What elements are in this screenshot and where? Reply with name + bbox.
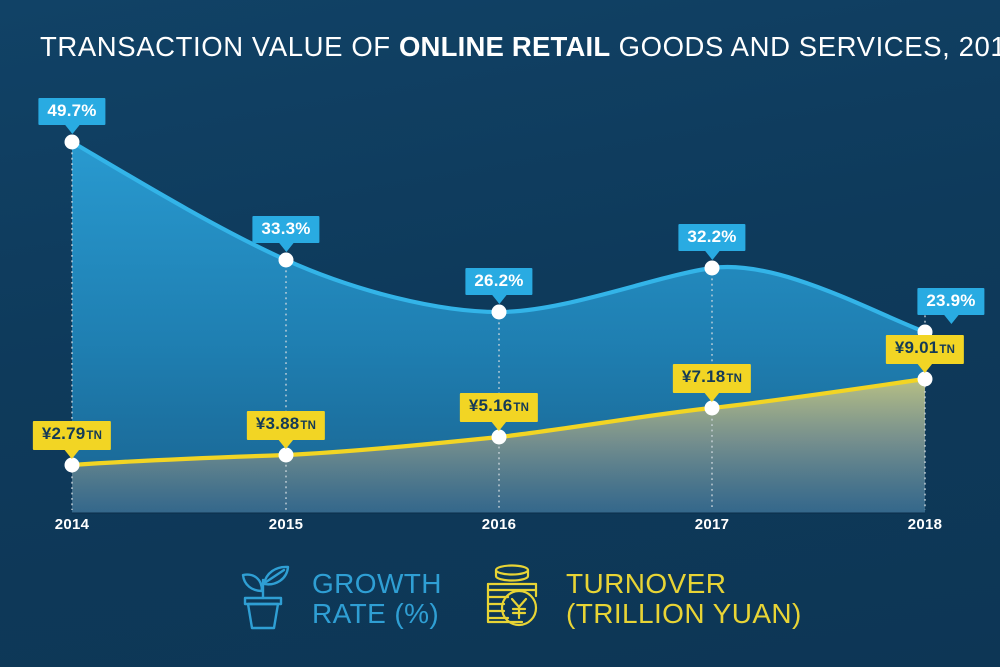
potted-plant-icon [228,560,298,637]
data-point [279,253,294,268]
turnover-callout-2014[interactable]: ¥2.79TN [33,421,111,450]
data-point [918,372,933,387]
data-point [65,135,80,150]
turnover-value: ¥3.88 [256,414,300,433]
data-point [492,430,507,445]
data-point [279,448,294,463]
legend-item-turnover[interactable]: TURNOVER (TRILLION YUAN) [478,560,802,637]
growth-rate-value: 26.2% [474,271,523,290]
turnover-callout-2016[interactable]: ¥5.16TN [460,393,538,422]
turnover-unit: TN [86,430,102,442]
callout-tail [278,439,294,449]
turnover-callout-2015[interactable]: ¥3.88TN [247,411,325,440]
callout-tail [64,124,80,134]
turnover-value: ¥2.79 [42,424,86,443]
axis-label-2018: 2018 [885,516,965,534]
callout-tail [491,421,507,431]
growth-rate-callout-2017[interactable]: 32.2% [678,224,745,251]
turnover-callout-2017[interactable]: ¥7.18TN [673,364,751,393]
legend-label-turnover: TURNOVER (TRILLION YUAN) [566,569,802,629]
data-point [65,458,80,473]
growth-rate-callout-2015[interactable]: 33.3% [252,216,319,243]
data-point [705,261,720,276]
legend-label-turnover-line2: (TRILLION YUAN) [566,599,802,629]
callout-tail [704,250,720,260]
data-point [492,305,507,320]
legend-label-growth-rate-line2: RATE (%) [312,599,442,629]
growth-rate-callout-2018[interactable]: 23.9% [917,288,984,315]
legend-label-growth-rate: GROWTH RATE (%) [312,569,442,629]
coin-stack-yuan-icon [478,560,552,637]
callout-tail [917,363,933,373]
turnover-value: ¥5.16 [469,396,513,415]
turnover-callout-2018[interactable]: ¥9.01TN [886,335,964,364]
turnover-value: ¥9.01 [895,338,939,357]
callout-tail [704,392,720,402]
turnover-unit: TN [726,373,742,385]
growth-rate-callout-2016[interactable]: 26.2% [465,268,532,295]
callout-tail [491,294,507,304]
callout-tail [64,449,80,459]
axis-label-2014: 2014 [32,516,112,534]
growth-rate-callout-2014[interactable]: 49.7% [38,98,105,125]
growth-rate-value: 23.9% [926,291,975,310]
turnover-value: ¥7.18 [682,367,726,386]
legend-label-growth-rate-line1: GROWTH [312,569,442,599]
turnover-unit: TN [939,344,955,356]
growth-rate-value: 32.2% [687,227,736,246]
axis-label-2016: 2016 [459,516,539,534]
growth-rate-value: 49.7% [47,101,96,120]
turnover-unit: TN [300,420,316,432]
legend-item-growth-rate[interactable]: GROWTH RATE (%) [228,560,442,637]
data-point [705,401,720,416]
infographic-canvas: TRANSACTION VALUE OF ONLINE RETAIL GOODS… [0,0,1000,667]
turnover-unit: TN [513,402,529,414]
legend-label-turnover-line1: TURNOVER [566,569,802,599]
axis-label-2017: 2017 [672,516,752,534]
growth-rate-value: 33.3% [261,219,310,238]
axis-label-2015: 2015 [246,516,326,534]
callout-tail [278,242,294,252]
chart-legend: GROWTH RATE (%) [0,556,1000,646]
callout-tail [943,314,959,324]
